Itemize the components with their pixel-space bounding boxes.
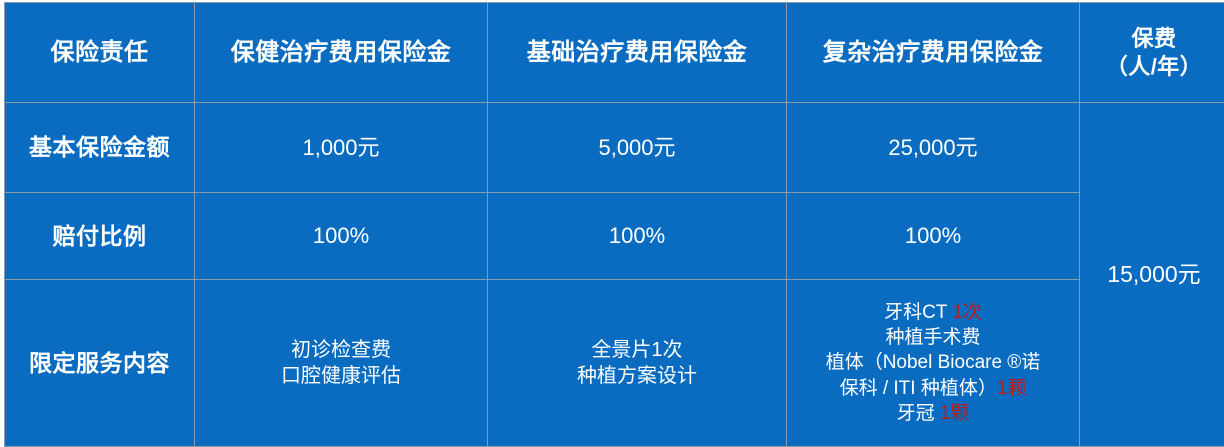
complex-service-line1: 牙科CT 1次 — [793, 300, 1073, 325]
complex-service-line2: 种植手术费 — [793, 325, 1073, 350]
cell-payout-ratio-complex: 100% — [787, 193, 1080, 280]
healthcare-service-line1: 初诊检查费 — [201, 337, 481, 363]
row-label-payout-ratio: 赔付比例 — [5, 193, 195, 280]
complex-service-item4-text: 保科 / ITI 种植体） — [840, 378, 997, 399]
basic-service-line2: 种植方案设计 — [494, 363, 780, 389]
table-row: 基本保险金额 1,000元 5,000元 25,000元 15,000元 — [5, 103, 1224, 193]
table-row: 限定服务内容 初诊检查费 口腔健康评估 全景片1次 种植方案设计 牙科CT 1次… — [5, 280, 1224, 447]
header-cell-complex-benefit: 复杂治疗费用保险金 — [787, 3, 1080, 103]
complex-service-item1-qty: 1次 — [952, 302, 982, 323]
header-cell-liability: 保险责任 — [5, 3, 195, 103]
header-cell-basic-benefit: 基础治疗费用保险金 — [488, 3, 787, 103]
header-cell-premium: 保费 （人/年） — [1080, 3, 1224, 103]
complex-service-line3: 植体（Nobel Biocare ®诺 — [793, 350, 1073, 375]
premium-header-line1: 保费 — [1086, 25, 1222, 53]
complex-service-line4: 保科 / ITI 种植体）1颗 — [793, 376, 1073, 401]
table-row: 赔付比例 100% 100% 100% — [5, 193, 1224, 280]
complex-service-item4-qty: 1颗 — [997, 378, 1027, 399]
premium-header-line2: （人/年） — [1086, 53, 1222, 81]
cell-basic-sum-complex: 25,000元 — [787, 103, 1080, 193]
cell-premium-value: 15,000元 — [1080, 103, 1224, 447]
row-label-covered-services: 限定服务内容 — [5, 280, 195, 447]
benefit-table-container: 保险责任 保健治疗费用保险金 基础治疗费用保险金 复杂治疗费用保险金 保费 （人… — [0, 0, 1224, 446]
cell-basic-sum-healthcare: 1,000元 — [195, 103, 488, 193]
cell-covered-services-healthcare: 初诊检查费 口腔健康评估 — [195, 280, 488, 447]
cell-payout-ratio-basic: 100% — [488, 193, 787, 280]
complex-service-item5-qty: 1颗 — [940, 403, 970, 424]
table-header-row: 保险责任 保健治疗费用保险金 基础治疗费用保险金 复杂治疗费用保险金 保费 （人… — [5, 3, 1224, 103]
cell-covered-services-basic: 全景片1次 种植方案设计 — [488, 280, 787, 447]
header-cell-healthcare-benefit: 保健治疗费用保险金 — [195, 3, 488, 103]
insurance-benefit-table: 保险责任 保健治疗费用保险金 基础治疗费用保险金 复杂治疗费用保险金 保费 （人… — [4, 2, 1224, 447]
cell-covered-services-complex: 牙科CT 1次 种植手术费 植体（Nobel Biocare ®诺 保科 / I… — [787, 280, 1080, 447]
cell-payout-ratio-healthcare: 100% — [195, 193, 488, 280]
complex-service-item1-text: 牙科CT — [884, 302, 952, 323]
complex-service-line5: 牙冠 1颗 — [793, 401, 1073, 426]
basic-service-line1: 全景片1次 — [494, 337, 780, 363]
healthcare-service-line2: 口腔健康评估 — [201, 363, 481, 389]
complex-service-item5-text: 牙冠 — [897, 403, 940, 424]
cell-basic-sum-basic: 5,000元 — [488, 103, 787, 193]
row-label-basic-sum-insured: 基本保险金额 — [5, 103, 195, 193]
